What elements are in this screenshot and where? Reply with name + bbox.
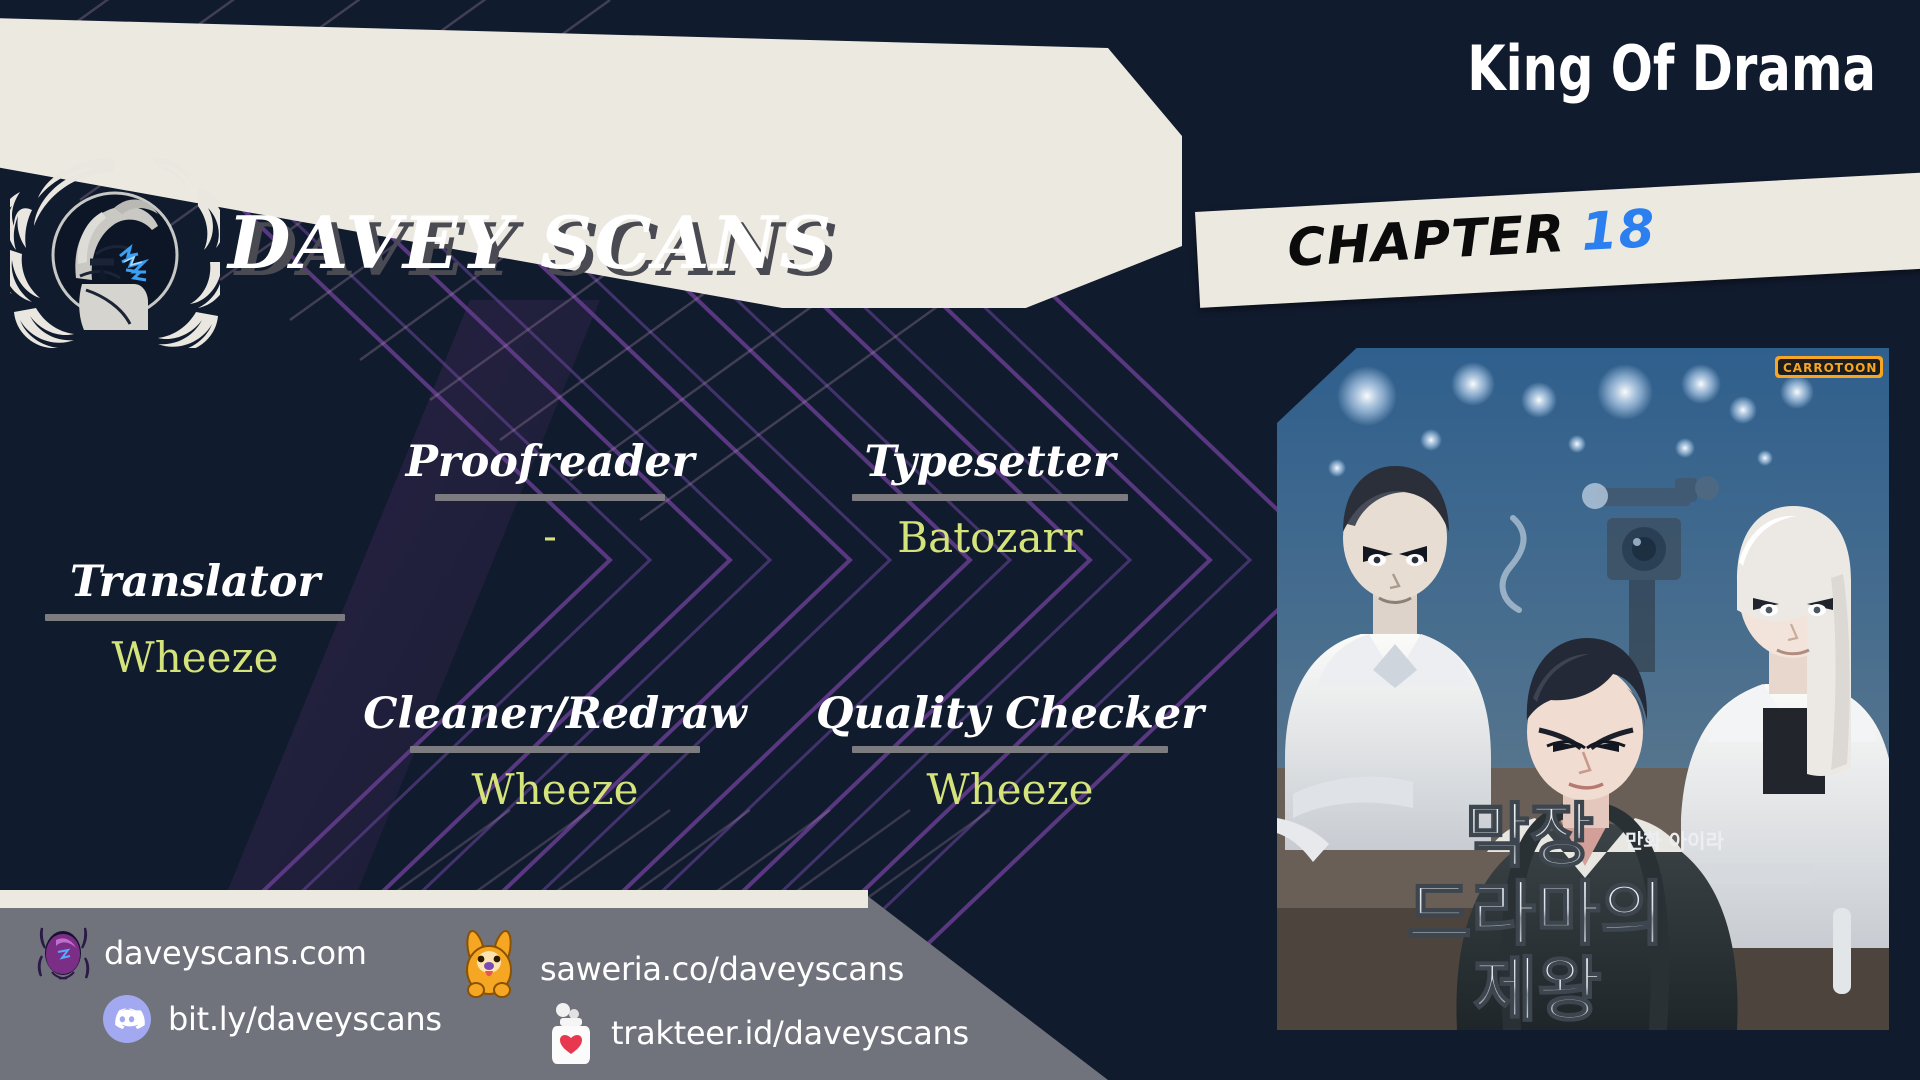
chapter-credits-page: CHAPTER18 King Of Drama bbox=[0, 0, 1920, 1080]
credit-person-name: - bbox=[370, 517, 730, 557]
credit-divider bbox=[410, 746, 700, 753]
credit-role-label: Typesetter bbox=[820, 440, 1160, 485]
svg-text:막장: 막장 bbox=[1465, 795, 1594, 877]
saweria-icon bbox=[452, 928, 526, 1002]
davey-logo-icon bbox=[36, 926, 90, 980]
svg-text:CARROTOON: CARROTOON bbox=[1783, 361, 1877, 375]
footer-link-saweria[interactable]: saweria.co/daveyscans bbox=[452, 936, 904, 1002]
credit-divider bbox=[852, 494, 1128, 501]
credit-person-name: Wheeze bbox=[810, 769, 1210, 811]
svg-text:드라마의: 드라마의 bbox=[1407, 873, 1665, 955]
chapter-number: 18 bbox=[1580, 199, 1658, 263]
credit-quality-checker: Quality Checker Wheeze bbox=[810, 692, 1210, 811]
discord-icon bbox=[100, 992, 154, 1046]
credit-person-name: Wheeze bbox=[355, 769, 755, 811]
credit-role-label: Translator bbox=[10, 560, 380, 605]
credit-person-name: Wheeze bbox=[10, 637, 380, 679]
credit-divider bbox=[45, 614, 345, 621]
series-cover-image: CARROTOON 막장 드라마의 제왕 만화 아이라 bbox=[1277, 348, 1889, 1030]
credit-role-label: Cleaner/Redraw bbox=[355, 692, 755, 737]
series-title: King Of Drama bbox=[1467, 32, 1876, 105]
svg-text:만화 아이라: 만화 아이라 bbox=[1625, 829, 1725, 853]
footer-link-label: saweria.co/daveyscans bbox=[540, 950, 904, 988]
credit-person-name: Batozarr bbox=[820, 517, 1160, 559]
credit-cleaner-redraw: Cleaner/Redraw Wheeze bbox=[355, 692, 755, 811]
credit-divider bbox=[852, 746, 1168, 753]
credit-proofreader: Proofreader - bbox=[370, 440, 730, 557]
footer-link-website[interactable]: daveyscans.com bbox=[36, 926, 367, 980]
footer-link-label: bit.ly/daveyscans bbox=[168, 1000, 442, 1038]
credit-typesetter: Typesetter Batozarr bbox=[820, 440, 1160, 559]
footer-link-trakteer[interactable]: trakteer.id/daveyscans bbox=[545, 1002, 969, 1064]
credit-role-label: Proofreader bbox=[370, 440, 730, 485]
trakteer-icon bbox=[545, 1002, 597, 1064]
credits-block: Translator Wheeze Proofreader - Typesett… bbox=[0, 0, 1240, 860]
footer-links: daveyscans.com bit.ly/daveyscans bbox=[0, 894, 1108, 1080]
credit-role-label: Quality Checker bbox=[810, 692, 1210, 737]
footer-link-discord[interactable]: bit.ly/daveyscans bbox=[100, 992, 442, 1046]
credit-translator: Translator Wheeze bbox=[10, 560, 380, 679]
svg-text:제왕: 제왕 bbox=[1473, 949, 1602, 1030]
credit-divider bbox=[435, 494, 665, 501]
footer-link-label: daveyscans.com bbox=[104, 934, 367, 972]
footer-link-label: trakteer.id/daveyscans bbox=[611, 1014, 969, 1052]
